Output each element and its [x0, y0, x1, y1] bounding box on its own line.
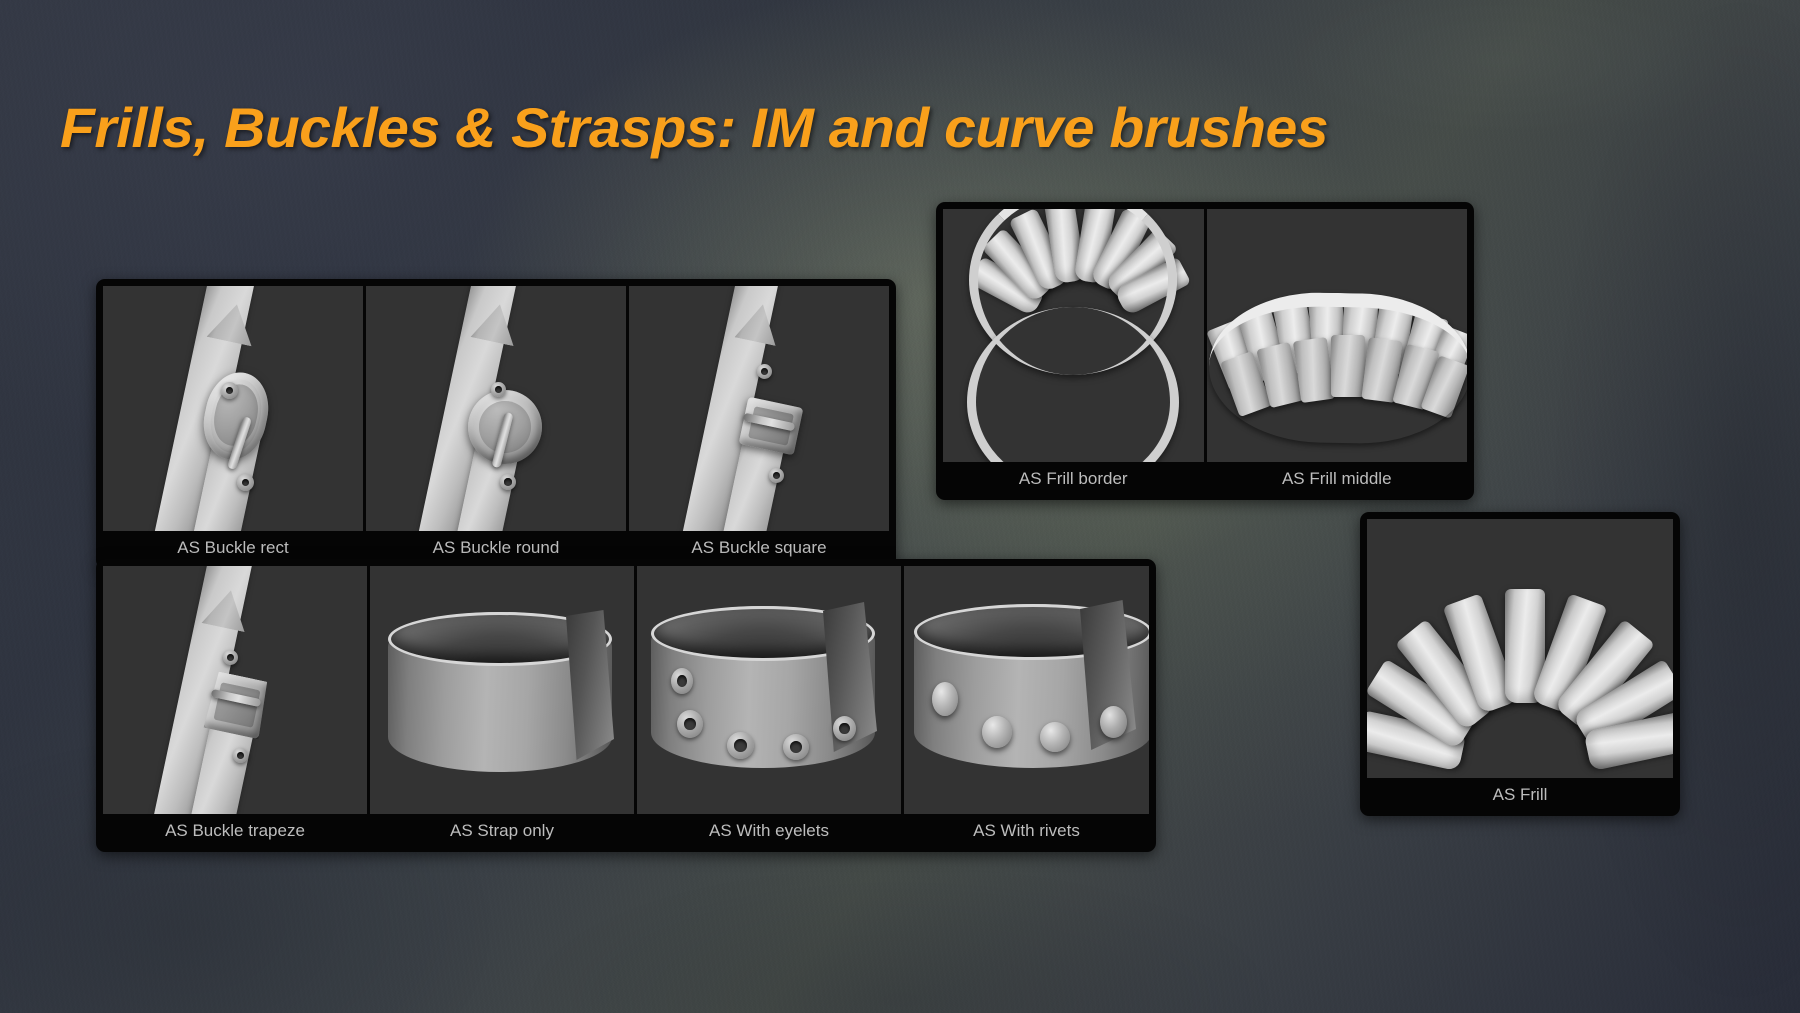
frill-border-viewport [943, 209, 1204, 462]
caption-frill-border: AS Frill border [943, 465, 1204, 493]
rivet-1 [932, 682, 958, 716]
cell-strap-only[interactable] [370, 566, 634, 814]
frill-fan [1383, 533, 1661, 753]
strap-eyelet-lower [233, 748, 248, 763]
caption-buckle-square: AS Buckle square [629, 534, 889, 562]
eyelet-4 [783, 734, 809, 760]
frill-middle-viewport [1207, 209, 1468, 462]
buckles-row-captions: AS Buckle rect AS Buckle round AS Buckle… [103, 534, 889, 562]
frill-single-panel: AS Frill [1360, 512, 1680, 816]
caption-strap-only: AS Strap only [370, 817, 634, 845]
caption-with-eyelets: AS With eyelets [637, 817, 901, 845]
cell-buckle-square[interactable] [629, 286, 889, 531]
caption-buckle-rect: AS Buckle rect [103, 534, 363, 562]
cell-buckle-round[interactable] [366, 286, 626, 531]
buckle-trapeze-viewport [103, 566, 367, 814]
straps-row-panel: AS Buckle trapeze AS Strap only AS With … [96, 559, 1156, 852]
caption-frill: AS Frill [1367, 781, 1673, 809]
frills-grid [943, 209, 1467, 462]
rivet-4 [1100, 706, 1127, 738]
buckle-eyelet-top [221, 382, 238, 399]
buckle-round-viewport [366, 286, 626, 531]
cell-frill-middle[interactable] [1207, 209, 1468, 462]
frill-arc-lower [969, 357, 1179, 462]
strap-eyelet-lower [237, 474, 254, 491]
frills-captions: AS Frill border AS Frill middle [943, 465, 1467, 493]
straps-row-grid [103, 566, 1149, 814]
cell-with-rivets[interactable] [904, 566, 1149, 814]
caption-buckle-trapeze: AS Buckle trapeze [103, 817, 367, 845]
buckles-row-grid [103, 286, 889, 531]
with-eyelets-viewport [637, 566, 901, 814]
eyelet-5 [833, 716, 856, 741]
cell-frill-border[interactable] [943, 209, 1204, 462]
eyelet-2 [677, 710, 703, 738]
buckle-eyelet-top [223, 650, 238, 665]
strap-eyelet-lower [500, 474, 516, 490]
cell-with-eyelets[interactable] [637, 566, 901, 814]
eyelet-1 [671, 668, 693, 694]
frill-single-caption: AS Frill [1367, 781, 1673, 809]
caption-buckle-round: AS Buckle round [366, 534, 626, 562]
caption-frill-middle: AS Frill middle [1207, 465, 1468, 493]
strap-only-viewport [370, 566, 634, 814]
frills-panel: AS Frill border AS Frill middle [936, 202, 1474, 500]
frill-middle-strip [1215, 287, 1463, 417]
buckles-row-panel: AS Buckle rect AS Buckle round AS Buckle… [96, 279, 896, 569]
cell-frill[interactable] [1367, 519, 1673, 778]
buckle-square-viewport [629, 286, 889, 531]
rivet-3 [1040, 722, 1070, 752]
caption-with-rivets: AS With rivets [904, 817, 1149, 845]
buckle-rect-viewport [103, 286, 363, 531]
strap-eyelet-lower [769, 468, 784, 483]
page-title: Frills, Buckles & Strasps: IM and curve … [60, 95, 1794, 160]
frill-viewport [1367, 519, 1673, 778]
buckle-eyelet-top [757, 364, 772, 379]
straps-row-captions: AS Buckle trapeze AS Strap only AS With … [103, 817, 1149, 845]
frill-middle-band [1207, 291, 1467, 446]
eyelet-3 [727, 732, 754, 759]
frill-single-grid [1367, 519, 1673, 778]
cell-buckle-trapeze[interactable] [103, 566, 367, 814]
rivet-2 [982, 716, 1012, 748]
buckle-eyelet-top [491, 382, 506, 397]
with-rivets-viewport [904, 566, 1149, 814]
cell-buckle-rect[interactable] [103, 286, 363, 531]
